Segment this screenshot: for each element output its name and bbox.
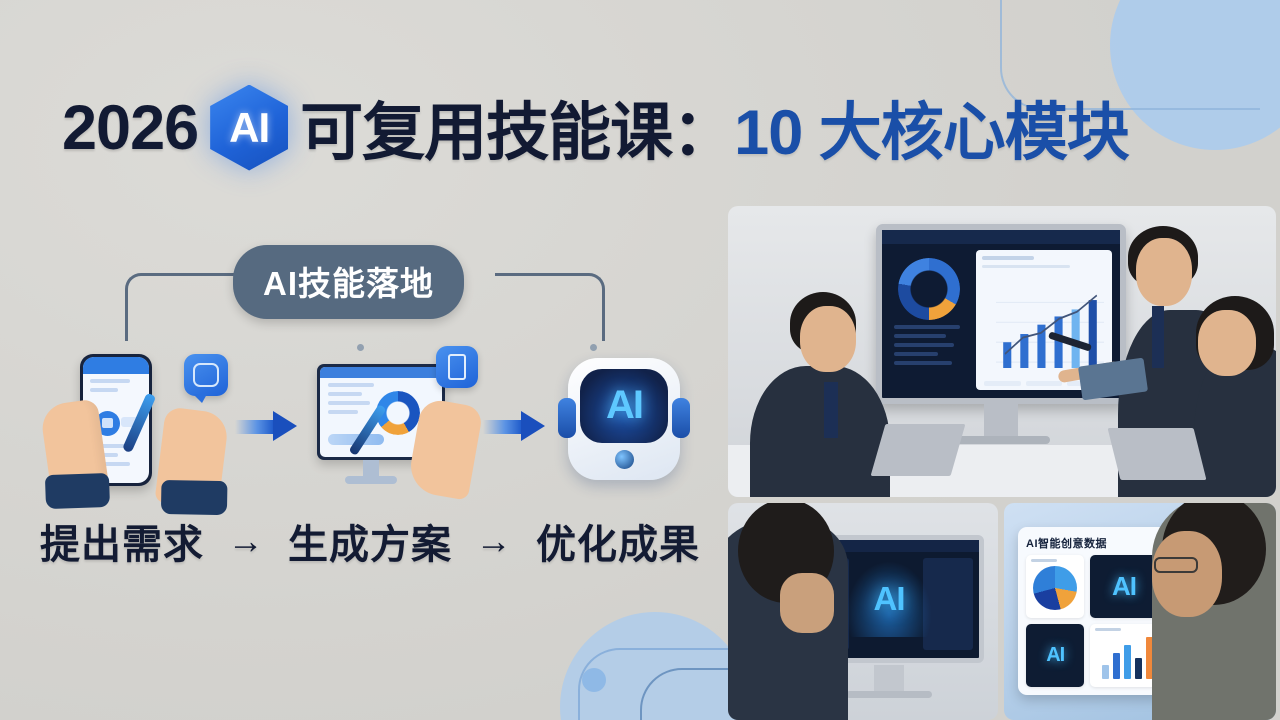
flow-illustration-row: AI	[40, 338, 700, 513]
arrow-shaft	[483, 420, 523, 434]
arrow-head	[521, 411, 545, 441]
glasses-icon	[1154, 557, 1198, 573]
man-ai-monitor-photo: AI	[728, 503, 998, 720]
title-segment-dark: 可复用技能课：	[300, 82, 734, 173]
bar-column	[1102, 665, 1109, 679]
phone-text-line	[90, 388, 118, 392]
photo-person-tie	[824, 382, 838, 438]
arrow-shaft	[235, 420, 275, 434]
robot-ear-right	[672, 398, 690, 438]
dashboard-list-line	[894, 352, 938, 356]
robot-body: AI	[568, 358, 680, 480]
dashboard-chart-svg	[996, 286, 1104, 368]
phone-with-hands-icon	[40, 340, 230, 512]
hologram-ai-label: AI	[874, 580, 905, 618]
phone-topbar	[83, 357, 149, 374]
flow-arrow-1-icon	[235, 411, 297, 441]
board-card-ai-secondary: AI	[1026, 624, 1084, 687]
flow-step-label-2: 生成方案	[288, 512, 452, 570]
photo-person-neck	[780, 573, 834, 633]
dashboard-list-line	[894, 334, 946, 338]
dashboard-list-line	[894, 325, 960, 329]
photo-person-tie	[1152, 306, 1164, 368]
monitor-chart-hand-icon	[303, 340, 478, 512]
pie-chart-icon	[1033, 566, 1077, 610]
robot-ear-left	[558, 398, 576, 438]
bracket-arm-left	[125, 273, 235, 341]
ai-badge-label: AI	[229, 104, 269, 152]
monitor-text-line	[328, 401, 370, 405]
writing-hand	[154, 406, 229, 509]
imac-stand	[874, 665, 904, 691]
board-ai-label-small: AI	[1046, 644, 1064, 667]
step-arrow-separator-2: →	[476, 520, 513, 562]
photo-person-head	[1136, 238, 1192, 306]
imac-foot	[846, 691, 932, 698]
photo-person-face	[1152, 531, 1222, 617]
bar-column	[1113, 653, 1120, 679]
chat-bubble-icon	[184, 354, 228, 396]
monitor-topbar	[320, 367, 442, 378]
dashboard-donut-chart	[898, 258, 960, 320]
phone-text-line	[90, 379, 130, 383]
meeting-dashboard-photo	[728, 206, 1276, 497]
bar-column	[1124, 645, 1131, 679]
chat-bubble-glyph	[193, 363, 219, 387]
footer-chip	[1026, 381, 1063, 386]
robot-face-label: AI	[606, 383, 642, 428]
ai-skill-pill-label: AI技能落地	[233, 245, 464, 319]
board-ai-label: AI	[1112, 571, 1136, 602]
robot-face-screen: AI	[580, 369, 668, 443]
ai-hologram-cube-icon: AI	[846, 561, 932, 637]
photo-laptop-left	[871, 424, 966, 476]
bar-column	[1135, 658, 1142, 679]
dashboard-topbar	[882, 230, 1120, 244]
ai-robot-icon: AI	[550, 340, 700, 512]
page-title: 2026 AI 可复用技能课： 10 大核心模块	[62, 82, 1129, 173]
robot-indicator-light	[615, 450, 634, 469]
bracket-arm-right	[495, 273, 605, 341]
dashboard-list-line	[894, 343, 954, 347]
board-card-bar-chart	[1090, 624, 1157, 687]
photo-person-head	[800, 306, 856, 372]
flow-step-label-3: 优化成果	[536, 512, 700, 570]
dashboard-chart-title	[982, 256, 1034, 260]
dashboard-chart-subtitle	[982, 265, 1070, 268]
card-title-bar	[1031, 559, 1057, 562]
step-arrow-separator-1: →	[228, 520, 265, 562]
man-ai-board-photo: AI智能创意数据 AI AI	[1004, 503, 1276, 720]
tablet-glyph	[448, 354, 466, 380]
ai-hexagon-badge-icon: AI	[210, 85, 288, 171]
poster-canvas: 2026 AI 可复用技能课： 10 大核心模块 AI技能落地	[0, 0, 1280, 720]
monitor-text-line	[328, 383, 374, 387]
photo-laptop-right	[1108, 428, 1207, 480]
photo-monitor-stand	[984, 404, 1018, 436]
tablet-icon	[436, 346, 478, 388]
bottom-left-dot-decoration	[582, 668, 606, 692]
monitor-text-line	[328, 410, 358, 414]
dashboard-list-line	[894, 361, 952, 365]
board-card-pie-chart	[1026, 555, 1084, 618]
footer-chip	[984, 381, 1021, 386]
arrow-head	[273, 411, 297, 441]
flow-step-label-1: 提出需求	[40, 512, 204, 570]
monitor-stand	[363, 460, 379, 476]
photo-person-seated-left	[750, 366, 890, 497]
board-card-ai-main: AI	[1090, 555, 1157, 618]
title-year: 2026	[62, 92, 198, 164]
monitor-text-line	[328, 392, 362, 396]
flow-arrow-2-icon	[483, 411, 545, 441]
dashboard-left-panel	[890, 250, 968, 390]
flow-step-labels: 提出需求 → 生成方案 → 优化成果	[40, 512, 700, 570]
card-title-bar	[1095, 628, 1121, 631]
dashboard-bar-line-chart	[996, 286, 1104, 368]
title-segment-blue: 10 大核心模块	[734, 82, 1129, 173]
photo-person-head	[1198, 310, 1256, 376]
photo-monitor-foot	[954, 436, 1050, 444]
monitor-foot	[345, 476, 397, 484]
